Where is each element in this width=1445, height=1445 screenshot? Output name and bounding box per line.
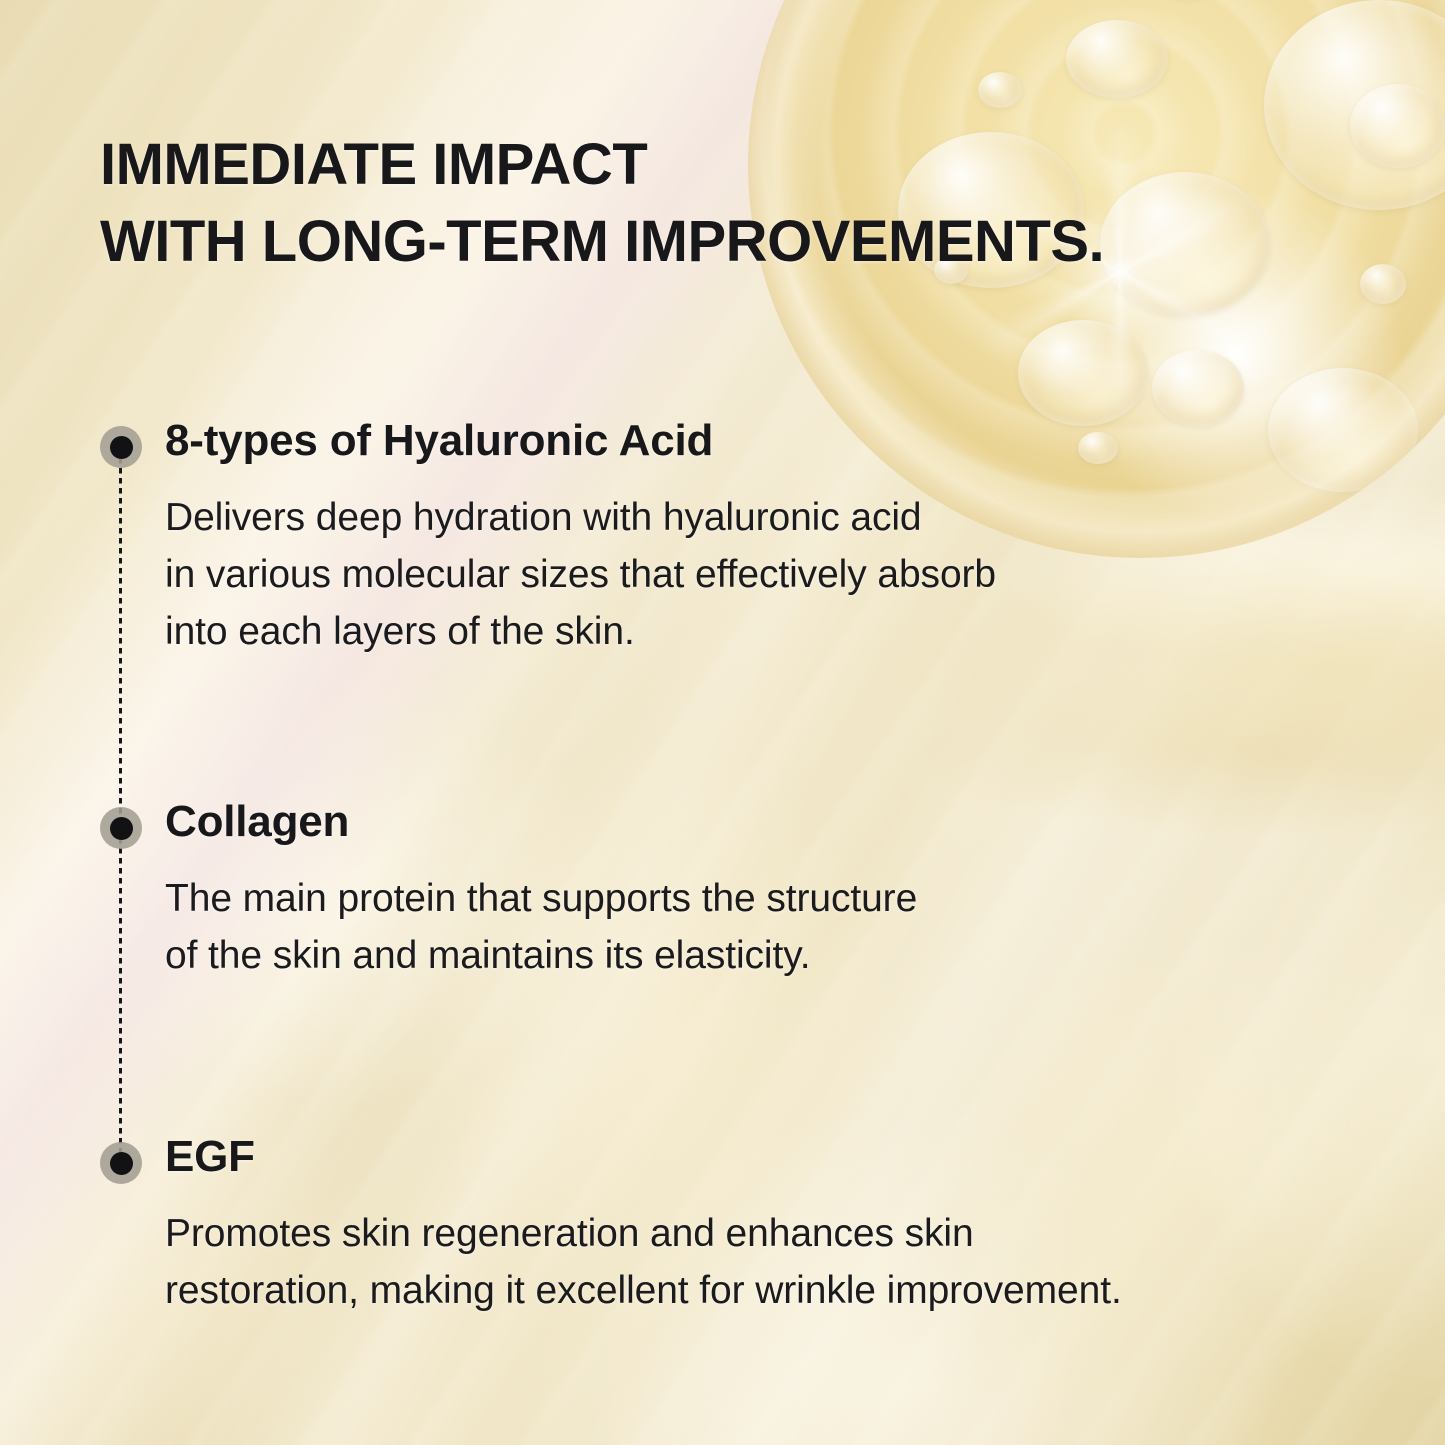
ingredient-block-collagen: Collagen The main protein that supports … [165, 799, 917, 985]
timeline-dot-icon-1 [100, 426, 142, 468]
ingredient-block-hyaluronic-acid: 8-types of Hyaluronic Acid Delivers deep… [165, 418, 996, 661]
ingredient-description: Promotes skin regeneration and enhances … [165, 1206, 1122, 1320]
page-title: IMMEDIATE IMPACT WITH LONG-TERM IMPROVEM… [100, 126, 1104, 280]
ingredient-block-egf: EGF Promotes skin regeneration and enhan… [165, 1134, 1122, 1320]
ingredient-title: Collagen [165, 799, 917, 845]
timeline-dot-icon-2 [100, 807, 142, 849]
ingredient-description: Delivers deep hydration with hyaluronic … [165, 490, 996, 661]
content-layer: IMMEDIATE IMPACT WITH LONG-TERM IMPROVEM… [0, 0, 1445, 1445]
ingredient-description: The main protein that supports the struc… [165, 871, 917, 985]
ingredient-title: 8-types of Hyaluronic Acid [165, 418, 996, 464]
timeline-dot-icon-3 [100, 1142, 142, 1184]
ingredient-timeline [100, 426, 142, 1186]
product-feature-banner: IMMEDIATE IMPACT WITH LONG-TERM IMPROVEM… [0, 0, 1445, 1445]
ingredient-title: EGF [165, 1134, 1122, 1180]
